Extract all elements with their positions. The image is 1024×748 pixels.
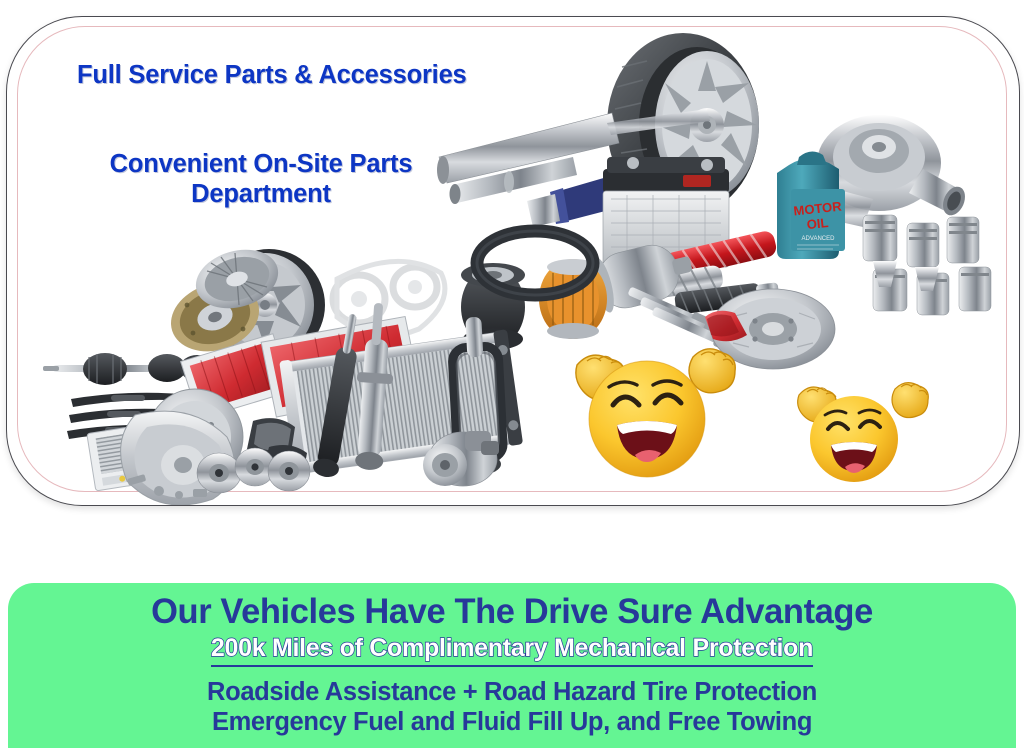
headline-secondary: Convenient On-Site Parts Department [51, 149, 471, 209]
banner-subline: 200k Miles of Complimentary Mechanical P… [211, 634, 813, 667]
wheel-hub-bearing [197, 448, 310, 493]
motor-oil-bottle: MOTOR OIL ADVANCED [777, 151, 845, 259]
headline-secondary-line-2: Department [51, 179, 471, 209]
banner-detail-line-2: Emergency Fuel and Fluid Fill Up, and Fr… [8, 708, 1016, 738]
page-title: Full Service Parts & Accessories [7, 61, 567, 90]
right-fist [689, 349, 735, 393]
pistons [863, 215, 991, 315]
drive-sure-advantage-banner: Our Vehicles Have The Drive Sure Advanta… [8, 583, 1016, 748]
hero-card: MOTOR OIL ADVANCED [6, 16, 1020, 506]
headline-secondary-line-1: Convenient On-Site Parts [51, 149, 471, 179]
headline-block: Full Service Parts & Accessories Conveni… [7, 61, 567, 209]
laughing-emoji-small-icon [791, 377, 935, 483]
svg-text:OIL: OIL [806, 215, 829, 232]
laughing-emoji-large-icon [565, 343, 751, 483]
banner-headline: Our Vehicles Have The Drive Sure Advanta… [16, 592, 1009, 632]
banner-subline-wrap: 200k Miles of Complimentary Mechanical P… [8, 634, 1016, 667]
svg-text:ADVANCED: ADVANCED [802, 236, 836, 242]
banner-detail-line-1: Roadside Assistance + Road Hazard Tire P… [8, 678, 1016, 708]
right-fist [892, 383, 928, 418]
